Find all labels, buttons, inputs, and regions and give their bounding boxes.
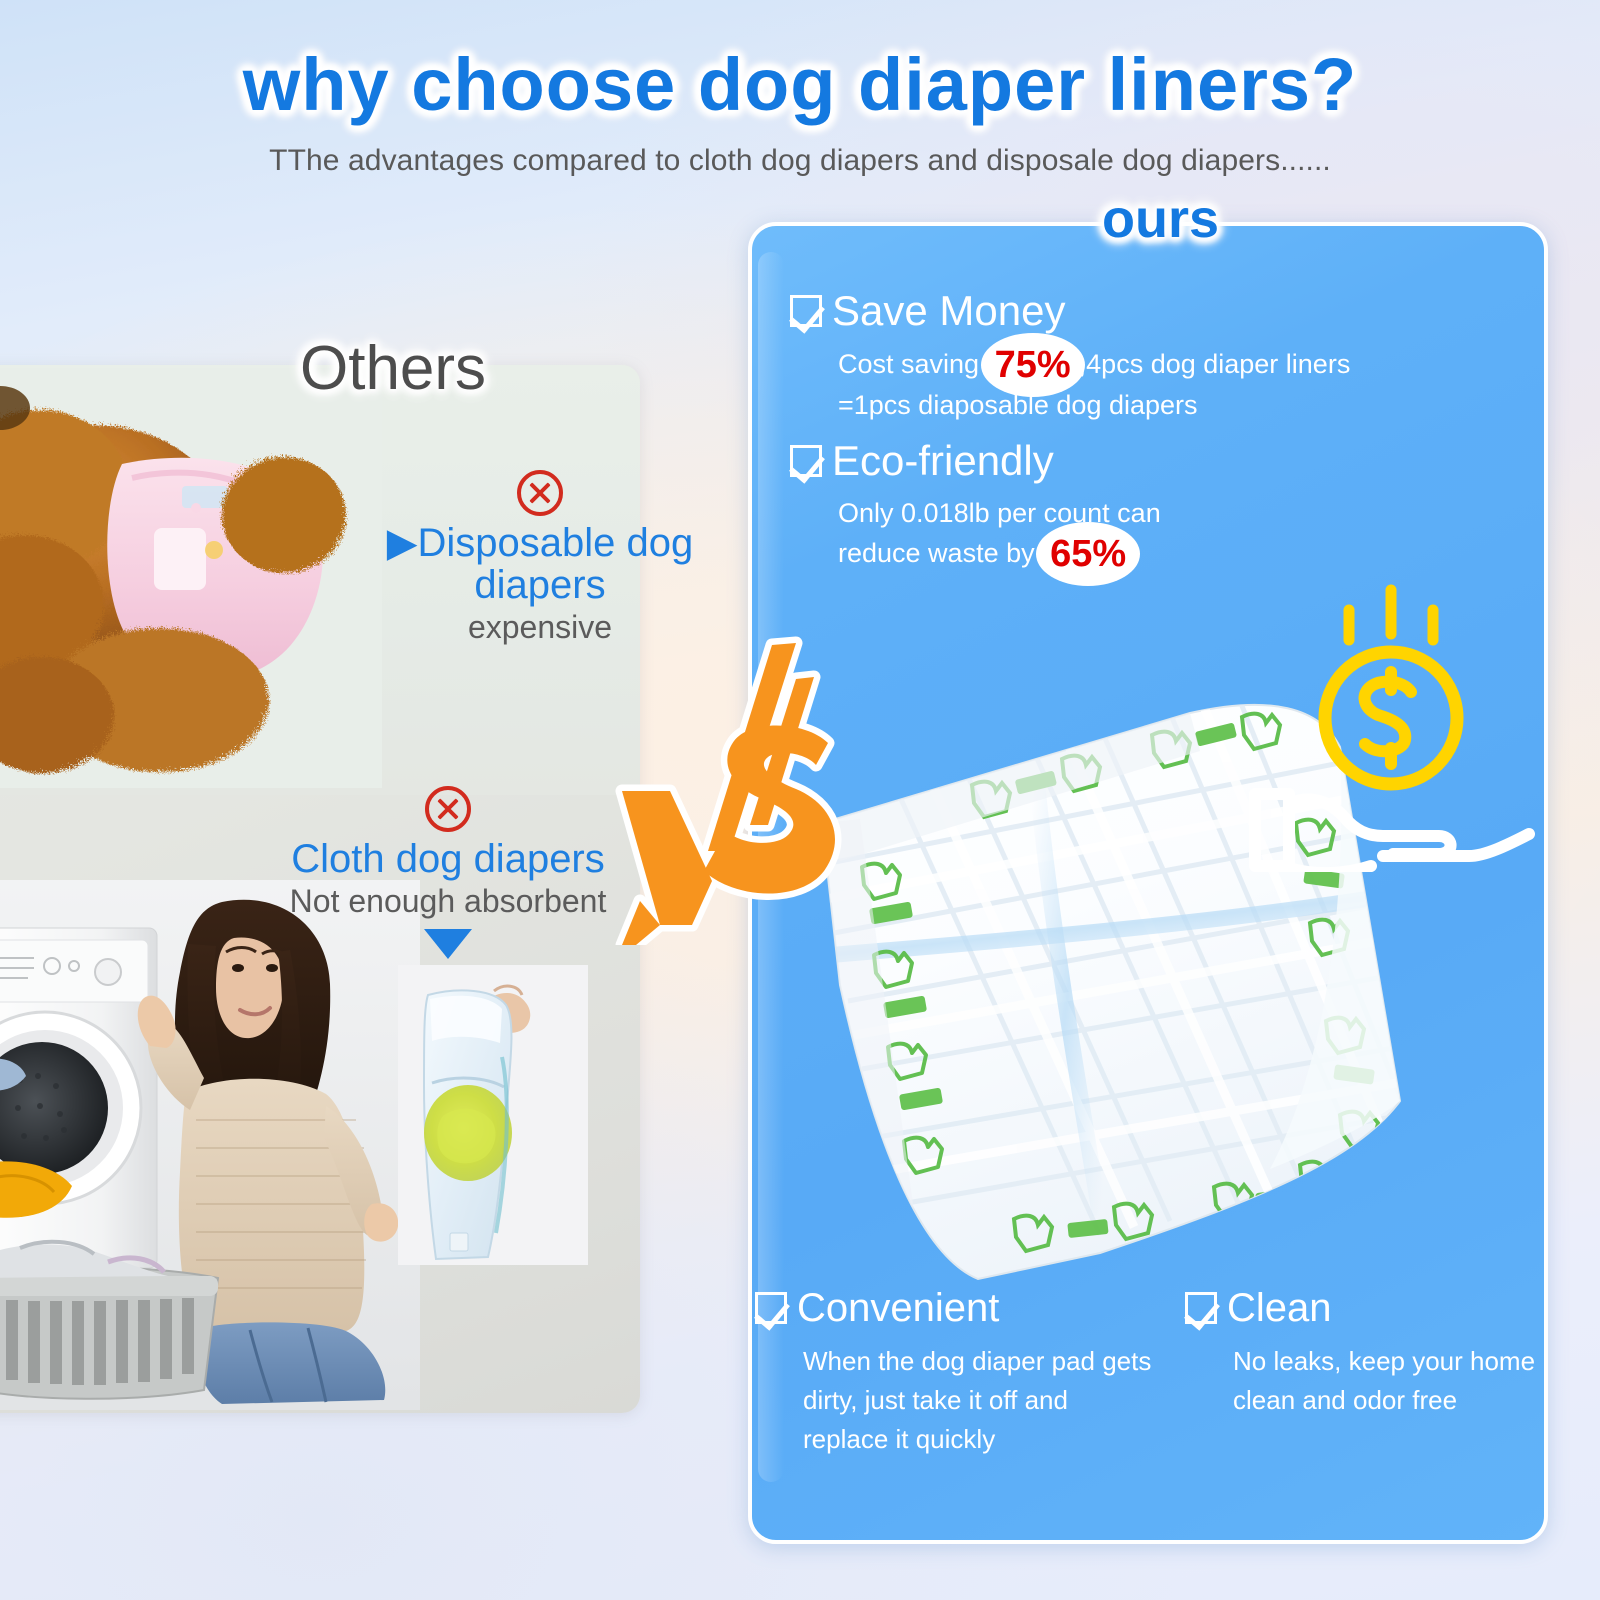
feature-save-money-title: Save Money: [832, 290, 1065, 332]
feature-clean-title: Clean: [1227, 1288, 1332, 1328]
others-item-cloth-sub: Not enough absorbent: [268, 884, 628, 919]
vs-badge: [600, 615, 850, 945]
page-header: why choose dog diaper liners? TThe advan…: [0, 0, 1600, 178]
others-item-cloth: Cloth dog diapers Not enough absorbent: [268, 786, 628, 959]
circle-x-icon: [425, 786, 471, 832]
feature-save-money-head: Save Money: [790, 290, 1390, 332]
feature-clean-body: No leaks, keep your home clean and odor …: [1233, 1342, 1545, 1420]
woman-at-washing-machine-photo: [0, 880, 420, 1410]
checkbox-checked-icon: [790, 445, 822, 477]
feature-save-money: Save Money Cost saving 75%,4pcs dog diap…: [790, 290, 1390, 425]
cost-saving-detail: ,4pcs dog diaper liners: [1079, 349, 1351, 379]
feature-clean-head: Clean: [1185, 1288, 1545, 1328]
dog-wearing-diaper-photo: [0, 368, 382, 788]
feature-eco-friendly-title: Eco-friendly: [832, 440, 1054, 482]
feature-convenient-body: When the dog diaper pad gets dirty, just…: [803, 1342, 1155, 1459]
feature-convenient: Convenient When the dog diaper pad gets …: [755, 1288, 1155, 1459]
cost-saving-label: Cost saving: [838, 349, 979, 379]
checkbox-checked-icon: [1185, 1292, 1217, 1324]
ours-label: ours: [1102, 188, 1219, 250]
page-subtitle: TThe advantages compared to cloth dog di…: [0, 144, 1600, 178]
page-title: why choose dog diaper liners?: [0, 48, 1600, 122]
eco-reduce-label: reduce waste by: [838, 538, 1035, 568]
feature-clean: Clean No leaks, keep your home clean and…: [1185, 1288, 1545, 1420]
checkbox-checked-icon: [755, 1292, 787, 1324]
feature-eco-friendly: Eco-friendly Only 0.018lb per count can …: [790, 440, 1390, 575]
checkbox-checked-icon: [790, 295, 822, 327]
feature-convenient-title: Convenient: [797, 1288, 999, 1328]
feature-save-money-body: Cost saving 75%,4pcs dog diaper liners =…: [838, 344, 1390, 425]
eco-weight-label: Only 0.018lb per count can: [838, 498, 1161, 528]
circle-x-icon: [517, 470, 563, 516]
cost-saving-equivalence: =1pcs diaposable dog diapers: [838, 390, 1198, 420]
feature-convenient-head: Convenient: [755, 1288, 1155, 1328]
money-in-hand-icon: [1245, 572, 1535, 872]
triangle-down-icon: [424, 929, 472, 959]
stained-cloth-diaper-photo: [398, 965, 588, 1265]
others-item-disposable-title: ▶Disposable dog diapers: [375, 522, 705, 606]
others-label: Others: [300, 333, 486, 404]
feature-eco-friendly-head: Eco-friendly: [790, 440, 1390, 482]
feature-eco-friendly-body: Only 0.018lb per count can reduce waste …: [838, 494, 1390, 575]
others-item-cloth-title: Cloth dog diapers: [268, 838, 628, 880]
eco-reduce-percent: 65%: [1042, 533, 1134, 575]
cost-saving-percent: 75%: [987, 344, 1079, 386]
